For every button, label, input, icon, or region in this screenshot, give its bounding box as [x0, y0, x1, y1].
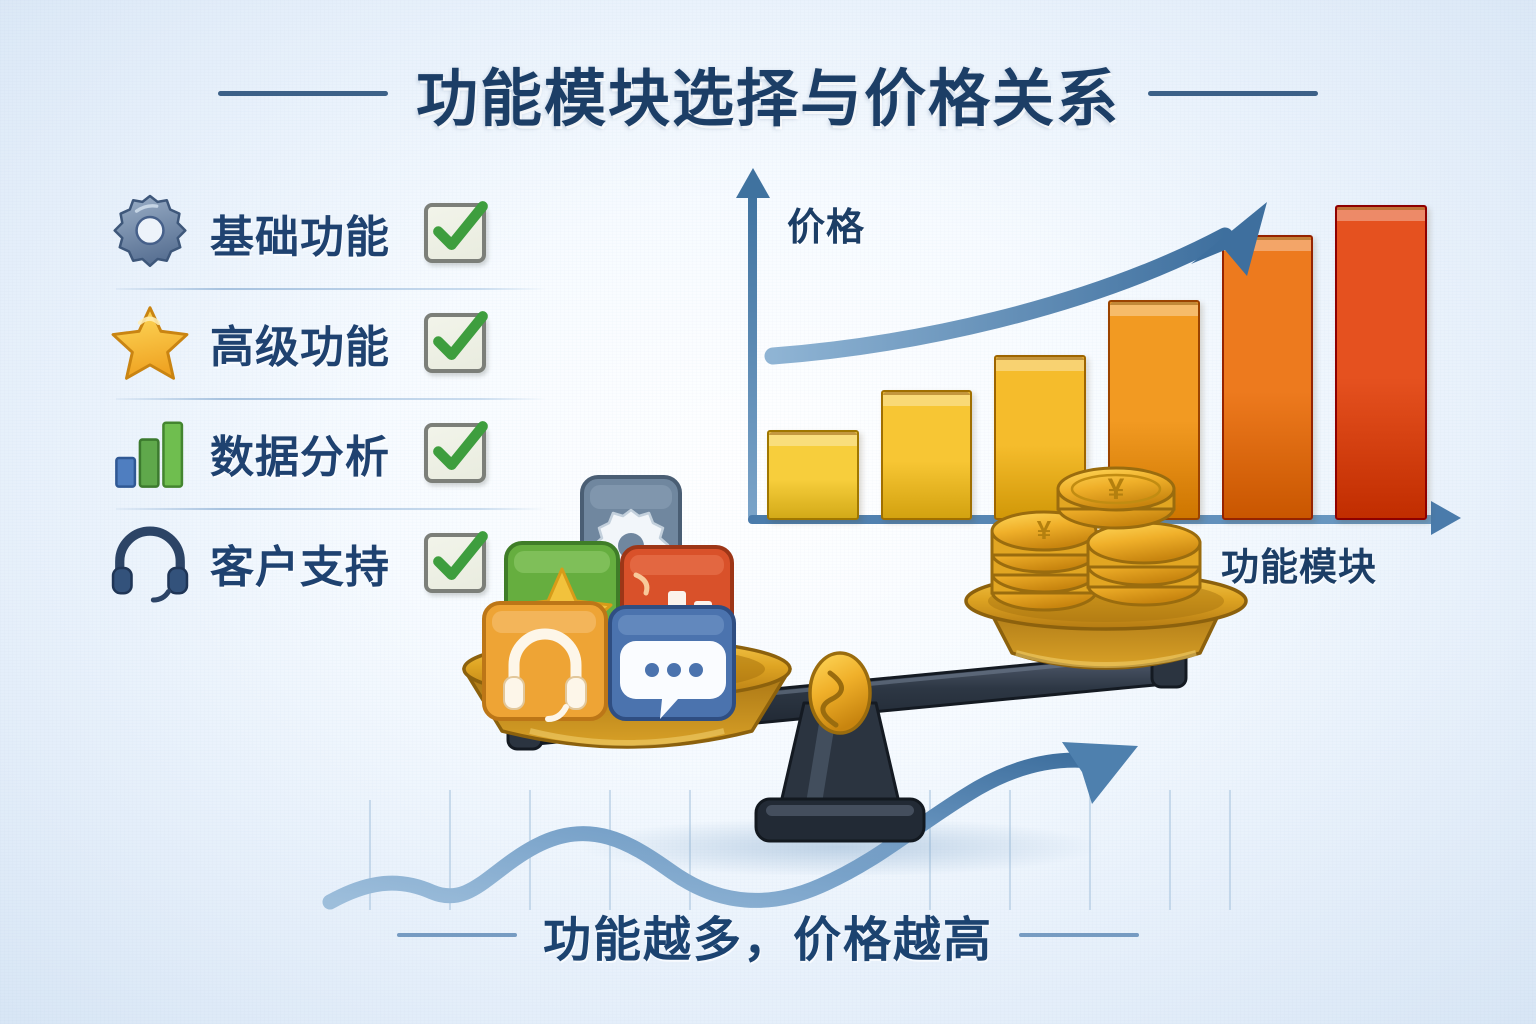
scale-pivot [810, 653, 870, 733]
feature-row[interactable]: 基础功能 [108, 178, 528, 288]
bar-chart-icon [108, 411, 192, 495]
feature-row[interactable]: 高级功能 [108, 288, 528, 398]
coin-symbol: ¥ [1108, 473, 1125, 506]
coin-stack: ¥ ¥ [992, 468, 1200, 610]
feature-label: 客户支持 [210, 531, 406, 595]
feature-label: 数据分析 [210, 421, 406, 485]
coin-symbol: ¥ [1037, 515, 1052, 545]
infographic-canvas: 功能模块选择与价格关系 基础功能 [0, 0, 1536, 1024]
headset-card [484, 603, 606, 719]
headset-icon [108, 521, 192, 605]
feature-label: 基础功能 [210, 201, 406, 265]
feature-card-stack [484, 477, 734, 719]
check-icon [422, 193, 496, 267]
gear-icon [108, 191, 192, 275]
chat-card [610, 607, 734, 719]
check-icon [422, 303, 496, 377]
caption-rule-right [1019, 933, 1139, 937]
page-title-bar: 功能模块选择与价格关系 [0, 48, 1536, 138]
footer-caption-bar: 功能越多，价格越高 [0, 900, 1536, 970]
coin-top: ¥ [1058, 468, 1174, 528]
coin-column-left: ¥ [992, 512, 1096, 610]
feature-label: 高级功能 [210, 311, 406, 375]
title-rule-right [1148, 91, 1318, 96]
chart-bar [1335, 205, 1427, 520]
footer-caption: 功能越多，价格越高 [543, 900, 993, 970]
title-rule-left [218, 91, 388, 96]
x-axis-arrow [1431, 501, 1461, 535]
feature-checkbox[interactable] [424, 313, 486, 373]
coin-column-right [1088, 523, 1200, 605]
y-axis-arrow [736, 168, 770, 198]
page-title: 功能模块选择与价格关系 [416, 48, 1120, 138]
star-icon [108, 301, 192, 385]
feature-checkbox[interactable] [424, 203, 486, 263]
caption-rule-left [397, 933, 517, 937]
balance-scale: ¥ ¥ [430, 455, 1250, 875]
